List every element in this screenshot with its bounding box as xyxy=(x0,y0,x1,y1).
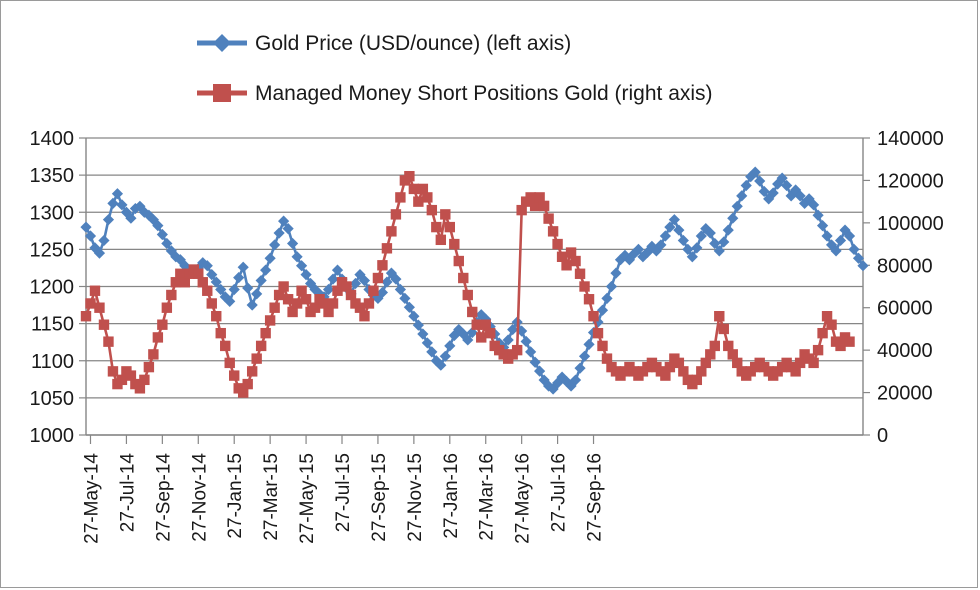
right-axis-tick-labels: 020000400006000080000100000120000140000 xyxy=(877,128,944,447)
chart-container: Gold Price (USD/ounce) (left axis)Manage… xyxy=(0,0,978,588)
category-label: 27-Jan-15 xyxy=(225,453,246,539)
category-axis-labels: 27-May-1427-Jul-1427-Sep-1427-Nov-1427-J… xyxy=(81,453,605,544)
right-axis-tick-label: 80000 xyxy=(877,255,933,277)
category-label: 27-Nov-15 xyxy=(405,453,426,542)
right-axis-tick-label: 20000 xyxy=(877,383,933,405)
left-axis-tick-label: 1000 xyxy=(30,425,75,447)
category-label: 27-Nov-14 xyxy=(189,453,210,542)
category-label: 27-Sep-16 xyxy=(585,453,606,542)
left-axis-tick-label: 1050 xyxy=(30,388,75,410)
left-axis-tick-label: 1400 xyxy=(30,128,75,150)
right-axis-tick-label: 0 xyxy=(877,425,888,447)
legend-gold-price: Gold Price (USD/ounce) (left axis) xyxy=(197,32,571,55)
left-axis-tick-labels: 100010501100115012001250130013501400 xyxy=(30,128,75,447)
left-axis-tick-label: 1300 xyxy=(30,202,75,224)
left-axis-tick-label: 1250 xyxy=(30,239,75,261)
category-label: 27-Sep-15 xyxy=(369,453,390,542)
category-label: 27-May-14 xyxy=(81,453,102,544)
left-axis-tick-label: 1350 xyxy=(30,165,75,187)
category-label: 27-May-15 xyxy=(297,453,318,544)
category-label: 27-Mar-15 xyxy=(261,453,282,541)
legend-short-positions: Managed Money Short Positions Gold (righ… xyxy=(197,82,713,105)
chart-series xyxy=(80,167,868,398)
category-label: 27-Jan-16 xyxy=(441,453,462,539)
category-label: 27-Jul-15 xyxy=(333,453,354,532)
right-axis-tick-label: 100000 xyxy=(877,213,944,235)
left-axis-tick-label: 1100 xyxy=(31,351,74,373)
right-axis-tick-label: 60000 xyxy=(877,298,933,320)
right-axis-tick-label: 120000 xyxy=(877,170,944,192)
right-axis-tick-label: 140000 xyxy=(877,128,944,150)
legend-label: Gold Price (USD/ounce) (left axis) xyxy=(255,32,571,55)
category-label: 27-Jul-16 xyxy=(549,453,570,532)
category-label: 27-Mar-16 xyxy=(477,453,498,541)
left-axis-tick-label: 1150 xyxy=(31,314,74,336)
chart-canvas: Gold Price (USD/ounce) (left axis)Manage… xyxy=(1,1,979,589)
category-label: 27-May-16 xyxy=(513,453,534,544)
left-axis-tick-label: 1200 xyxy=(30,277,75,299)
right-axis-tick-label: 40000 xyxy=(877,340,933,362)
chart-legend: Gold Price (USD/ounce) (left axis)Manage… xyxy=(197,32,713,105)
category-label: 27-Sep-14 xyxy=(153,453,174,542)
legend-label: Managed Money Short Positions Gold (righ… xyxy=(255,82,713,105)
category-label: 27-Jul-14 xyxy=(117,453,138,533)
